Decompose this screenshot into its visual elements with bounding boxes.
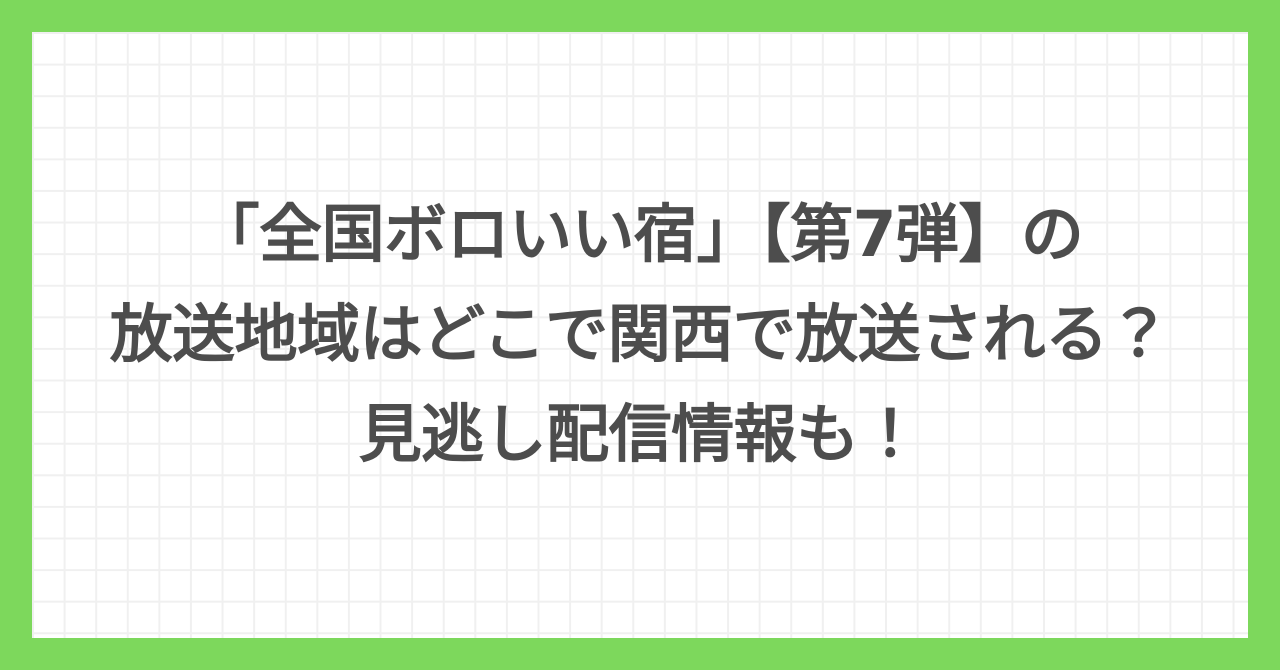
paper-panel: 「全国ボロいい宿」【第7弾】の 放送地域はどこで関西で放送される？ 見逃し配信情… [32,32,1248,638]
headline-line-1: 「全国ボロいい宿」【第7弾】の [38,185,1242,285]
headline-line-3: 見逃し配信情報も！ [38,385,1242,485]
thumbnail-canvas: 「全国ボロいい宿」【第7弾】の 放送地域はどこで関西で放送される？ 見逃し配信情… [0,0,1280,670]
headline-block: 「全国ボロいい宿」【第7弾】の 放送地域はどこで関西で放送される？ 見逃し配信情… [32,185,1248,485]
headline-line-2: 放送地域はどこで関西で放送される？ [38,285,1242,385]
